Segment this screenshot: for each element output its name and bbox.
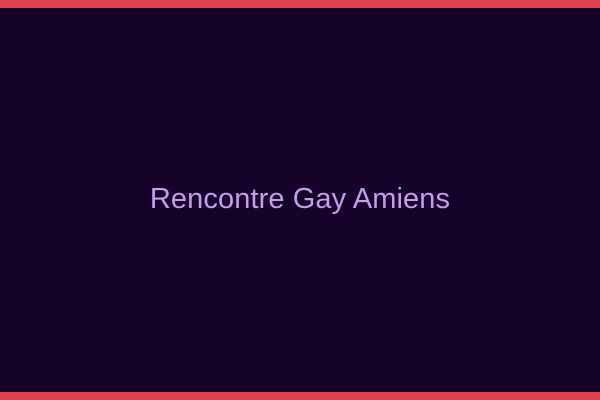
banner-title: Rencontre Gay Amiens (150, 183, 450, 216)
banner-content-area: Rencontre Gay Amiens (0, 8, 600, 392)
top-accent-bar (0, 0, 600, 8)
placeholder-banner: Rencontre Gay Amiens (0, 0, 600, 400)
bottom-accent-bar (0, 392, 600, 400)
